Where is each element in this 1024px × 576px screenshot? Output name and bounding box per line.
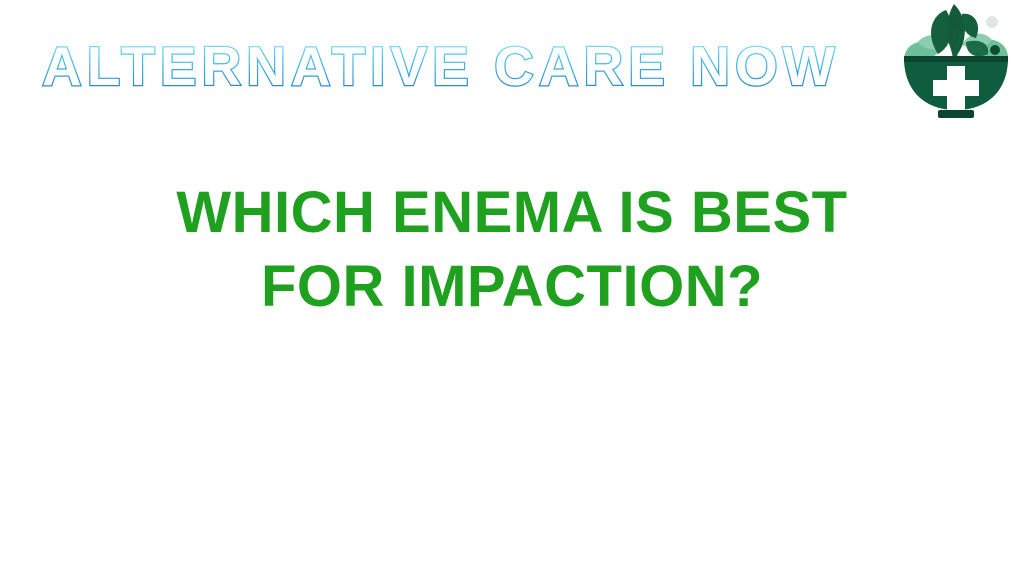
accent-dot-dark-icon — [990, 45, 1000, 55]
logo-svg — [896, 2, 1016, 126]
brand-title-text: ALTERNATIVE CARE NOW — [42, 35, 840, 97]
brand-title-svg: ALTERNATIVE CARE NOW — [40, 33, 830, 105]
mortar-rim-icon — [904, 56, 1008, 62]
page-title: WHICH ENEMA IS BEST FOR IMPACTION? — [0, 176, 1024, 324]
logo — [896, 2, 1016, 126]
page-title-line-2: FOR IMPACTION? — [0, 250, 1024, 324]
page-title-line-1: WHICH ENEMA IS BEST — [0, 176, 1024, 250]
accent-circle-light-icon — [986, 16, 998, 28]
brand-banner: ALTERNATIVE CARE NOW — [40, 33, 830, 105]
slide-canvas: ALTERNATIVE CARE NOW — [0, 0, 1024, 576]
mortar-base-icon — [938, 110, 974, 118]
